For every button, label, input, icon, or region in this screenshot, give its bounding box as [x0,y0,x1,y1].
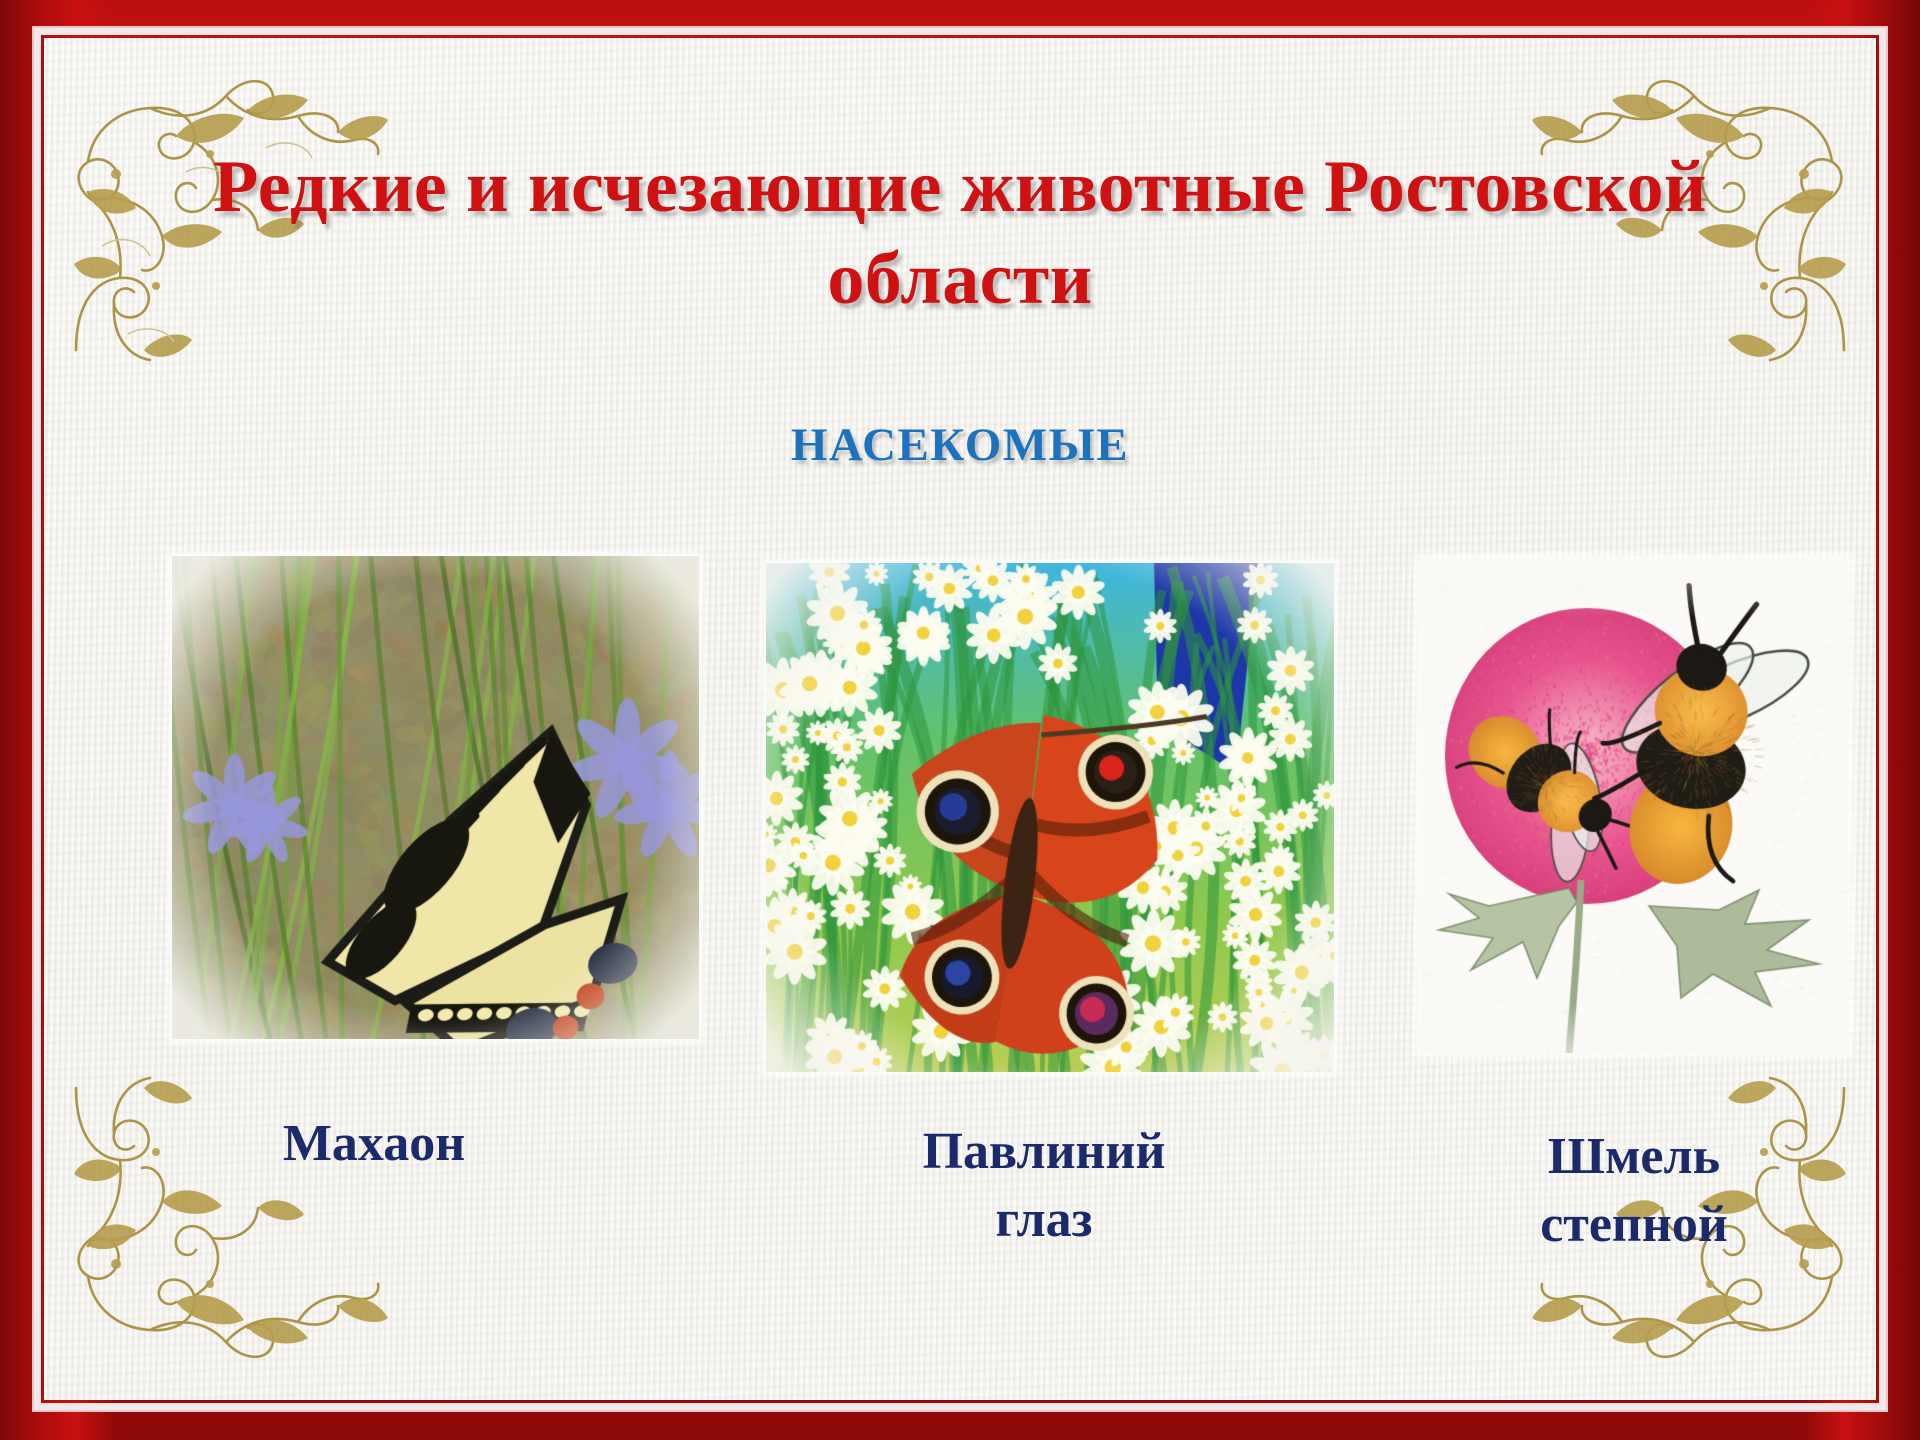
caption-line: Павлиний [804,1118,1284,1186]
gold-filigree-corner-bottom-left-icon [58,1058,388,1388]
caption-line: глаз [804,1186,1284,1254]
insect-caption-2: Шмель степной [1414,1123,1854,1258]
insect-image-2 [1419,558,1849,1053]
page-subtitle: НАСЕКОМЫЕ [44,418,1876,472]
insect-image-row [44,553,1876,1073]
insect-caption-0: Махаон [164,1110,584,1178]
content-panel: Редкие и исчезающие животные Ростовской … [44,38,1876,1400]
insect-caption-1: Павлиний глаз [804,1118,1284,1253]
slide-root: Редкие и исчезающие животные Ростовской … [0,0,1920,1440]
caption-line: Махаон [164,1110,584,1178]
caption-line: Шмель [1414,1123,1854,1191]
page-title: Редкие и исчезающие животные Ростовской … [44,142,1876,326]
caption-line: степной [1414,1191,1854,1259]
insect-image-0 [172,556,699,1039]
insect-image-1 [766,563,1334,1072]
